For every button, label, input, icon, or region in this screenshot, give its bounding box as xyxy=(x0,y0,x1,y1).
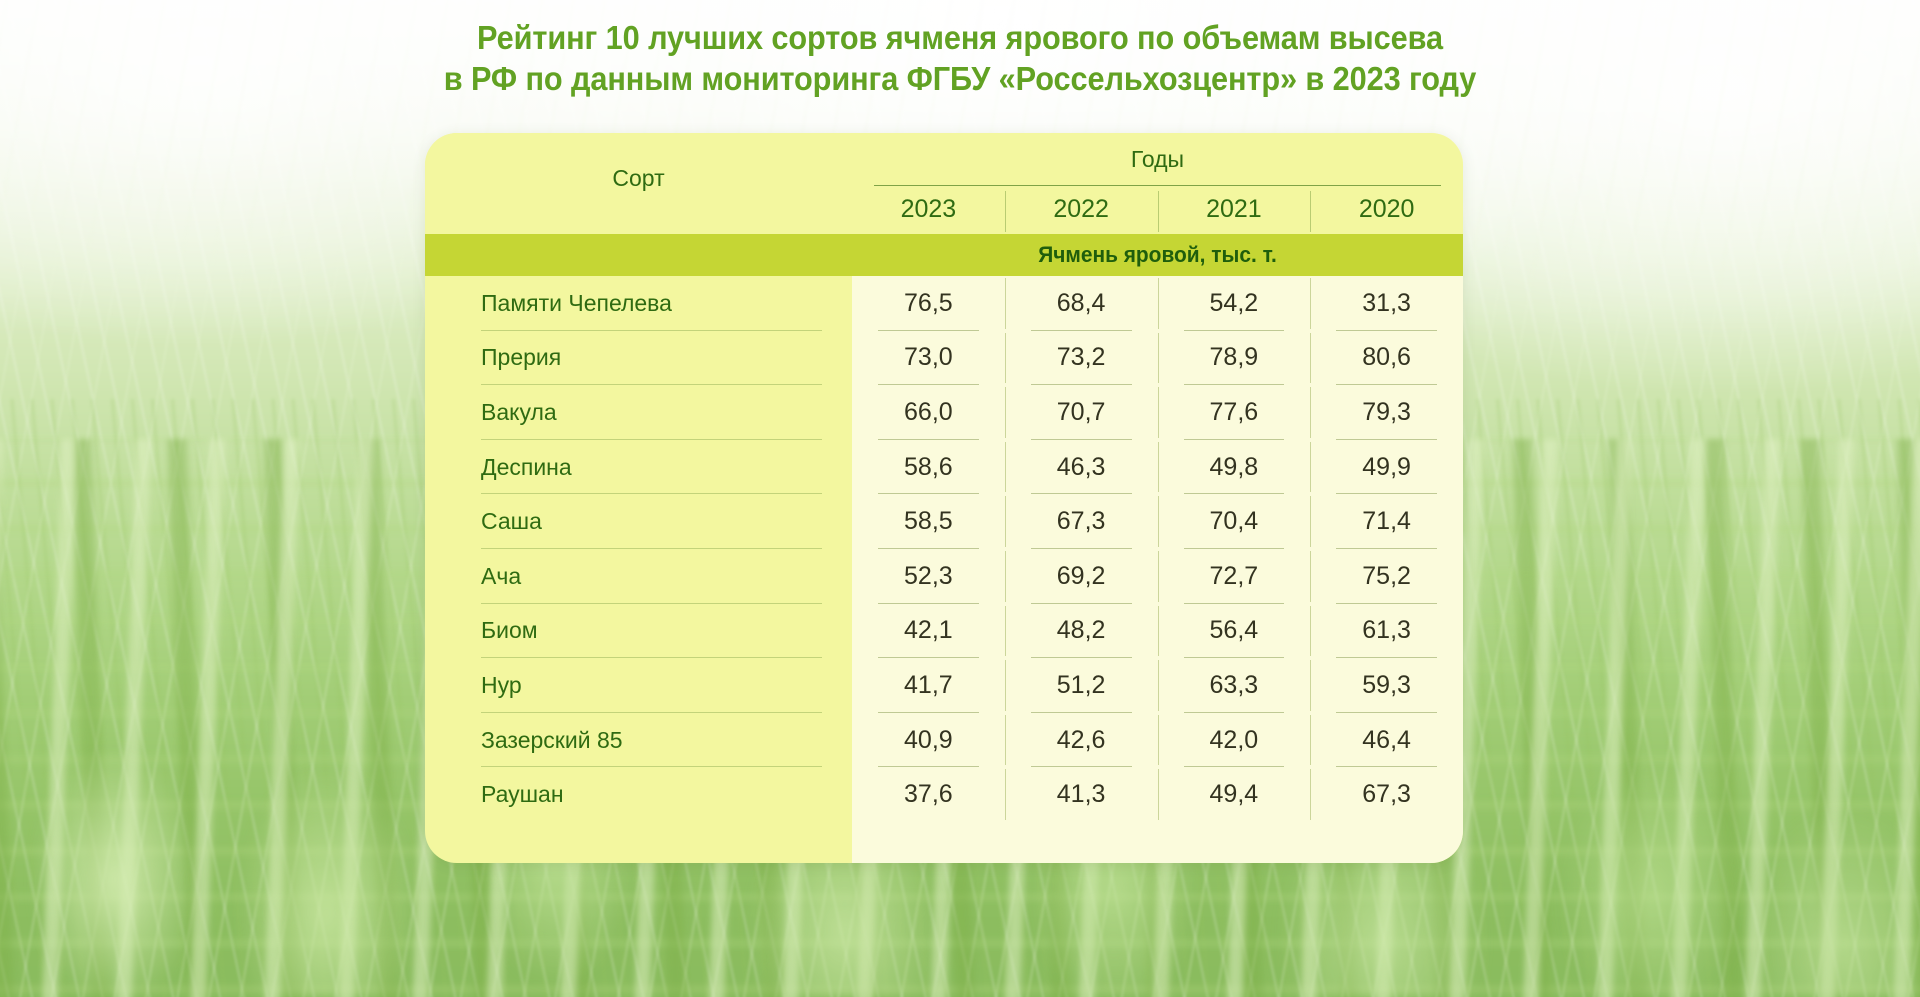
cell-value-2020: 67,3 xyxy=(1310,767,1463,822)
table-body: Памяти Чепелева76,568,454,231,3Прерия73,… xyxy=(425,276,1463,863)
cell-value-2021: 63,3 xyxy=(1158,658,1311,713)
page-title: Рейтинг 10 лучших сортов ячменя ярового … xyxy=(0,17,1920,99)
cell-values-group: 37,641,349,467,3 xyxy=(852,767,1463,822)
cell-value-2020: 79,3 xyxy=(1310,385,1463,440)
cell-value-2022: 48,2 xyxy=(1005,604,1158,659)
table-row: Нур41,751,263,359,3 xyxy=(425,658,1463,713)
column-header-sort: Сорт xyxy=(425,133,852,234)
cell-variety-name: Деспина xyxy=(425,440,852,495)
ranking-table-card: Сорт Годы 2023202220212020 Ячмень яровой… xyxy=(425,133,1463,863)
column-header-year-2021: 2021 xyxy=(1158,185,1311,234)
cell-value-2022: 42,6 xyxy=(1005,713,1158,768)
cell-value-2020: 75,2 xyxy=(1310,549,1463,604)
cell-value-2020: 71,4 xyxy=(1310,494,1463,549)
cell-value-2021: 42,0 xyxy=(1158,713,1311,768)
cell-variety-name: Ача xyxy=(425,549,852,604)
cell-value-2021: 70,4 xyxy=(1158,494,1311,549)
cell-value-2022: 69,2 xyxy=(1005,549,1158,604)
cell-values-group: 42,148,256,461,3 xyxy=(852,604,1463,659)
cell-value-2023: 66,0 xyxy=(852,385,1005,440)
page-title-line-1: Рейтинг 10 лучших сортов ячменя ярового … xyxy=(67,17,1853,58)
column-header-year-2020: 2020 xyxy=(1310,185,1463,234)
cell-value-2023: 37,6 xyxy=(852,767,1005,822)
cell-values-group: 73,073,278,980,6 xyxy=(852,331,1463,386)
section-band-label: Ячмень яровой, тыс. т. xyxy=(867,234,1447,276)
column-header-year-2023: 2023 xyxy=(852,185,1005,234)
cell-values-group: 52,369,272,775,2 xyxy=(852,549,1463,604)
table-row: Вакула66,070,777,679,3 xyxy=(425,385,1463,440)
cell-value-2023: 42,1 xyxy=(852,604,1005,659)
cell-value-2022: 70,7 xyxy=(1005,385,1158,440)
table-header: Сорт Годы 2023202220212020 xyxy=(425,133,1463,234)
cell-value-2021: 78,9 xyxy=(1158,331,1311,386)
page-title-line-2: в РФ по данным мониторинга ФГБУ «Россель… xyxy=(67,58,1853,99)
table-row: Ача52,369,272,775,2 xyxy=(425,549,1463,604)
cell-value-2023: 76,5 xyxy=(852,276,1005,331)
cell-variety-name: Вакула xyxy=(425,385,852,440)
cell-values-group: 66,070,777,679,3 xyxy=(852,385,1463,440)
cell-value-2022: 68,4 xyxy=(1005,276,1158,331)
cell-value-2023: 58,5 xyxy=(852,494,1005,549)
table-row: Раушан37,641,349,467,3 xyxy=(425,767,1463,822)
cell-value-2022: 67,3 xyxy=(1005,494,1158,549)
cell-variety-name: Зазерский 85 xyxy=(425,713,852,768)
cell-value-2023: 40,9 xyxy=(852,713,1005,768)
section-band-spacer xyxy=(425,234,852,276)
cell-value-2023: 73,0 xyxy=(852,331,1005,386)
cell-value-2021: 49,4 xyxy=(1158,767,1311,822)
cell-values-group: 41,751,263,359,3 xyxy=(852,658,1463,713)
cell-value-2020: 49,9 xyxy=(1310,440,1463,495)
table-row: Памяти Чепелева76,568,454,231,3 xyxy=(425,276,1463,331)
cell-value-2020: 59,3 xyxy=(1310,658,1463,713)
cell-values-group: 58,646,349,849,9 xyxy=(852,440,1463,495)
cell-value-2021: 77,6 xyxy=(1158,385,1311,440)
cell-value-2020: 61,3 xyxy=(1310,604,1463,659)
years-group-label: Годы xyxy=(852,133,1463,185)
cell-values-group: 76,568,454,231,3 xyxy=(852,276,1463,331)
cell-value-2020: 46,4 xyxy=(1310,713,1463,768)
cell-value-2023: 58,6 xyxy=(852,440,1005,495)
column-header-year-2022: 2022 xyxy=(1005,185,1158,234)
cell-value-2022: 73,2 xyxy=(1005,331,1158,386)
cell-value-2022: 51,2 xyxy=(1005,658,1158,713)
cell-variety-name: Биом xyxy=(425,604,852,659)
table-row: Деспина58,646,349,849,9 xyxy=(425,440,1463,495)
cell-value-2023: 41,7 xyxy=(852,658,1005,713)
cell-value-2021: 72,7 xyxy=(1158,549,1311,604)
table-row: Саша58,567,370,471,4 xyxy=(425,494,1463,549)
cell-variety-name: Саша xyxy=(425,494,852,549)
cell-value-2023: 52,3 xyxy=(852,549,1005,604)
cell-value-2022: 41,3 xyxy=(1005,767,1158,822)
year-column-headers: 2023202220212020 xyxy=(852,185,1463,234)
table-row: Прерия73,073,278,980,6 xyxy=(425,331,1463,386)
cell-value-2021: 54,2 xyxy=(1158,276,1311,331)
cell-variety-name: Памяти Чепелева xyxy=(425,276,852,331)
cell-variety-name: Прерия xyxy=(425,331,852,386)
column-header-years-group: Годы 2023202220212020 xyxy=(852,133,1463,234)
cell-variety-name: Нур xyxy=(425,658,852,713)
section-band: Ячмень яровой, тыс. т. xyxy=(425,234,1463,276)
table-row: Биом42,148,256,461,3 xyxy=(425,604,1463,659)
cell-value-2021: 49,8 xyxy=(1158,440,1311,495)
cell-variety-name: Раушан xyxy=(425,767,852,822)
cell-values-group: 58,567,370,471,4 xyxy=(852,494,1463,549)
cell-value-2020: 31,3 xyxy=(1310,276,1463,331)
cell-values-group: 40,942,642,046,4 xyxy=(852,713,1463,768)
cell-value-2022: 46,3 xyxy=(1005,440,1158,495)
cell-value-2020: 80,6 xyxy=(1310,331,1463,386)
table-row: Зазерский 8540,942,642,046,4 xyxy=(425,713,1463,768)
cell-value-2021: 56,4 xyxy=(1158,604,1311,659)
